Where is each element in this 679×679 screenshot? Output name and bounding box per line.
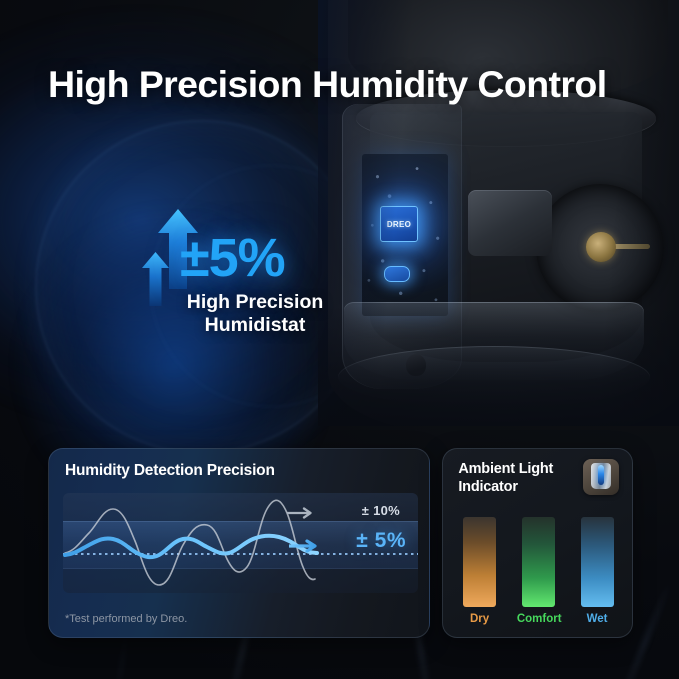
card-left-footnote: *Test performed by Dreo. [65,613,187,625]
bar-fill-dry [463,517,496,607]
card-left-title: Humidity Detection Precision [65,462,275,480]
card-ambient-light-indicator: Ambient Light Indicator Dry Comfort Wet [442,448,633,638]
hero-caption: High Precision Humidistat [140,291,370,337]
chart-label-10-percent: ± 10% [362,503,400,518]
hero-caption-line2: Humidistat [140,314,370,337]
chart-label-5-percent: ± 5% [356,529,406,553]
info-cards: Humidity Detection Precision [48,448,633,638]
ambient-bar-comfort: Comfort [517,517,560,625]
ambient-bar-dry: Dry [458,517,501,625]
hero-percent-value: ±5% [180,227,285,289]
bar-fill-wet [581,517,614,607]
page-title: High Precision Humidity Control [48,63,648,106]
card-right-title: Ambient Light Indicator [458,461,573,496]
card-humidity-detection-precision: Humidity Detection Precision [48,448,430,638]
product-bottom-fade [318,306,679,426]
bar-label-comfort: Comfort [517,613,560,625]
bar-label-dry: Dry [458,613,501,625]
ambient-bar-wet: Wet [576,517,619,625]
hero-stat: ±5% High Precision Humidistat [140,205,370,337]
bar-fill-comfort [522,517,555,607]
up-arrow-small-icon [142,252,169,306]
product-thumbnail-icon [583,459,619,495]
hero-stat-row: ±5% [140,205,370,297]
thumbnail-light-glow [598,465,604,485]
marketing-banner: DREO High Precision Humidity Control [0,0,679,679]
precision-chart: ± 10% ± 5% [63,493,418,593]
bar-label-wet: Wet [576,613,619,625]
ambient-light-bars: Dry Comfort Wet [458,517,618,625]
